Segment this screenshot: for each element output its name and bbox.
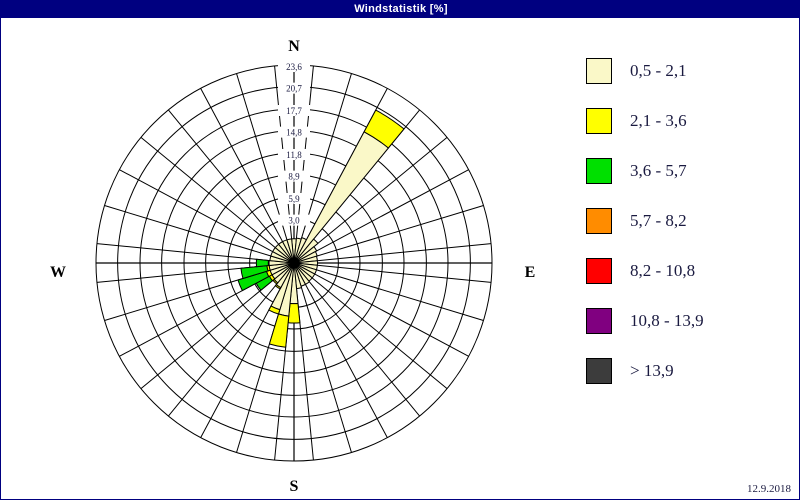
- legend-row: 8,2 - 10,8: [586, 246, 791, 296]
- legend-label: > 13,9: [630, 361, 674, 381]
- window-title: Windstatistik [%]: [354, 3, 448, 15]
- legend-label: 3,6 - 5,7: [630, 161, 687, 181]
- windrose-window: Windstatistik [%] 3,05,98,911,814,817,72…: [0, 0, 800, 500]
- legend: 0,5 - 2,12,1 - 3,63,6 - 5,75,7 - 8,28,2 …: [586, 46, 791, 396]
- radial-tick-label: 3,0: [288, 216, 300, 226]
- grid-spoke: [105, 206, 273, 257]
- legend-color-swatch: [586, 308, 612, 334]
- legend-label: 10,8 - 13,9: [630, 311, 704, 331]
- legend-color-swatch: [586, 58, 612, 84]
- legend-label: 8,2 - 10,8: [630, 261, 695, 281]
- legend-label: 0,5 - 2,1: [630, 61, 687, 81]
- compass-label-north: N: [274, 38, 314, 56]
- radial-tick-label: 14,8: [286, 128, 302, 138]
- radial-tick-label: 11,8: [286, 150, 302, 160]
- radial-tick-label: 23,6: [286, 62, 302, 72]
- legend-color-swatch: [586, 358, 612, 384]
- radial-tick-label: 17,7: [286, 106, 302, 116]
- compass-label-west: W: [38, 264, 78, 282]
- window-title-bar: Windstatistik [%]: [1, 1, 800, 18]
- legend-row: 10,8 - 13,9: [586, 296, 791, 346]
- radial-tick-label: 5,9: [288, 194, 300, 204]
- legend-row: 2,1 - 3,6: [586, 96, 791, 146]
- date-stamp: 12.9.2018: [747, 483, 791, 495]
- legend-row: 0,5 - 2,1: [586, 46, 791, 96]
- legend-color-swatch: [586, 158, 612, 184]
- compass-label-south: S: [274, 478, 314, 496]
- legend-label: 2,1 - 3,6: [630, 111, 687, 131]
- chart-plot-area: 3,05,98,911,814,817,720,723,6 N S W E 0,…: [1, 18, 799, 499]
- legend-row: 5,7 - 8,2: [586, 196, 791, 246]
- radial-tick-label: 20,7: [286, 84, 302, 94]
- legend-row: > 13,9: [586, 346, 791, 396]
- legend-row: 3,6 - 5,7: [586, 146, 791, 196]
- radial-tick-label: 8,9: [288, 172, 300, 182]
- legend-label: 5,7 - 8,2: [630, 211, 687, 231]
- grid-spoke: [315, 206, 483, 257]
- legend-color-swatch: [586, 258, 612, 284]
- compass-label-east: E: [510, 264, 550, 282]
- windrose-petal-segment: [269, 314, 288, 347]
- grid-spoke: [300, 284, 351, 452]
- legend-color-swatch: [586, 108, 612, 134]
- windrose-petal-segment: [256, 259, 268, 266]
- grid-spoke: [315, 269, 483, 320]
- legend-color-swatch: [586, 208, 612, 234]
- windrose-petals: [238, 110, 404, 347]
